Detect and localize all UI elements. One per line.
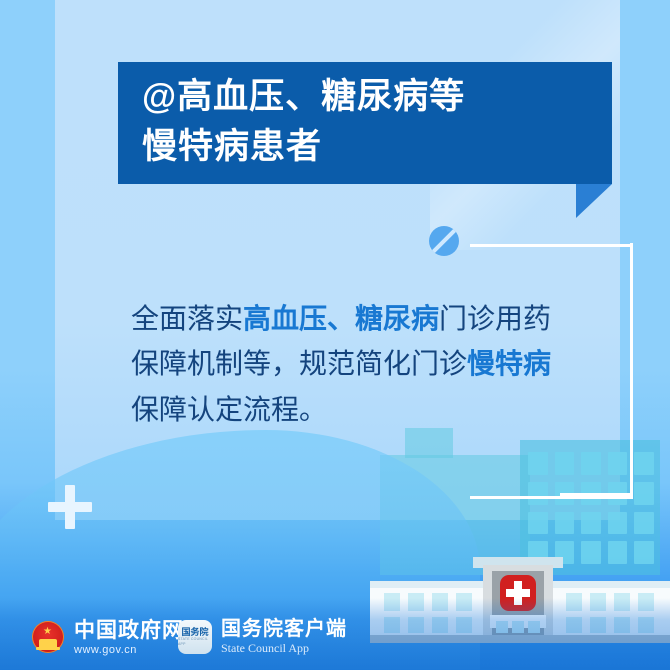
- title-text: @高血压、糖尿病等 慢特病患者: [142, 72, 612, 171]
- body-l1-highlight: 高血压、糖尿病: [243, 303, 439, 334]
- app-icon-en: STATE COUNCIL APP: [178, 637, 212, 647]
- brand-gov-cn: ★ 中国政府网 www.gov.cn: [32, 619, 184, 656]
- background-building-tower: [405, 428, 453, 458]
- body-line-2: 保障机制等，规范简化门诊慢特病: [131, 341, 591, 386]
- brand-state-council-app: 国务院 STATE COUNCIL APP 国务院客户端 State Counc…: [178, 618, 347, 656]
- title-line-1: @高血压、糖尿病等: [142, 72, 612, 122]
- body-line-1: 全面落实高血压、糖尿病门诊用药: [131, 296, 591, 341]
- pill-icon: [429, 226, 459, 256]
- bracket-frame-bottom: [560, 493, 630, 496]
- plus-decoration-icon: [48, 485, 92, 529]
- brand-state-council-label: 国务院客户端: [221, 618, 347, 640]
- national-emblem-icon: ★: [32, 621, 64, 653]
- body-l1-p1: 全面落实: [131, 303, 243, 334]
- body-l1-p2: 门诊用药: [439, 303, 551, 334]
- body-l3-p1: 保障认定流程。: [131, 394, 327, 425]
- body-text: 全面落实高血压、糖尿病门诊用药 保障机制等，规范简化门诊慢特病 保障认定流程。: [131, 296, 591, 432]
- body-l2-highlight: 慢特病: [467, 348, 551, 379]
- state-council-app-icon: 国务院 STATE COUNCIL APP: [178, 620, 212, 654]
- brand-state-council-en: State Council App: [221, 641, 347, 656]
- footer-band: ★ 中国政府网 www.gov.cn 国务院 STATE COUNCIL APP…: [0, 598, 670, 670]
- poster-canvas: @高血压、糖尿病等 慢特病患者 全面落实高血压、糖尿病门诊用药 保障机制等，规范…: [0, 0, 670, 670]
- body-line-3: 保障认定流程。: [131, 387, 591, 432]
- brand-gov-cn-label: 中国政府网: [74, 619, 184, 642]
- pill-connector-line: [470, 244, 630, 247]
- body-l2-p1: 保障机制等，规范简化门诊: [131, 348, 467, 379]
- app-icon-cn: 国务院: [181, 627, 208, 637]
- title-line-2: 慢特病患者: [142, 122, 612, 172]
- brand-gov-cn-url: www.gov.cn: [74, 644, 184, 656]
